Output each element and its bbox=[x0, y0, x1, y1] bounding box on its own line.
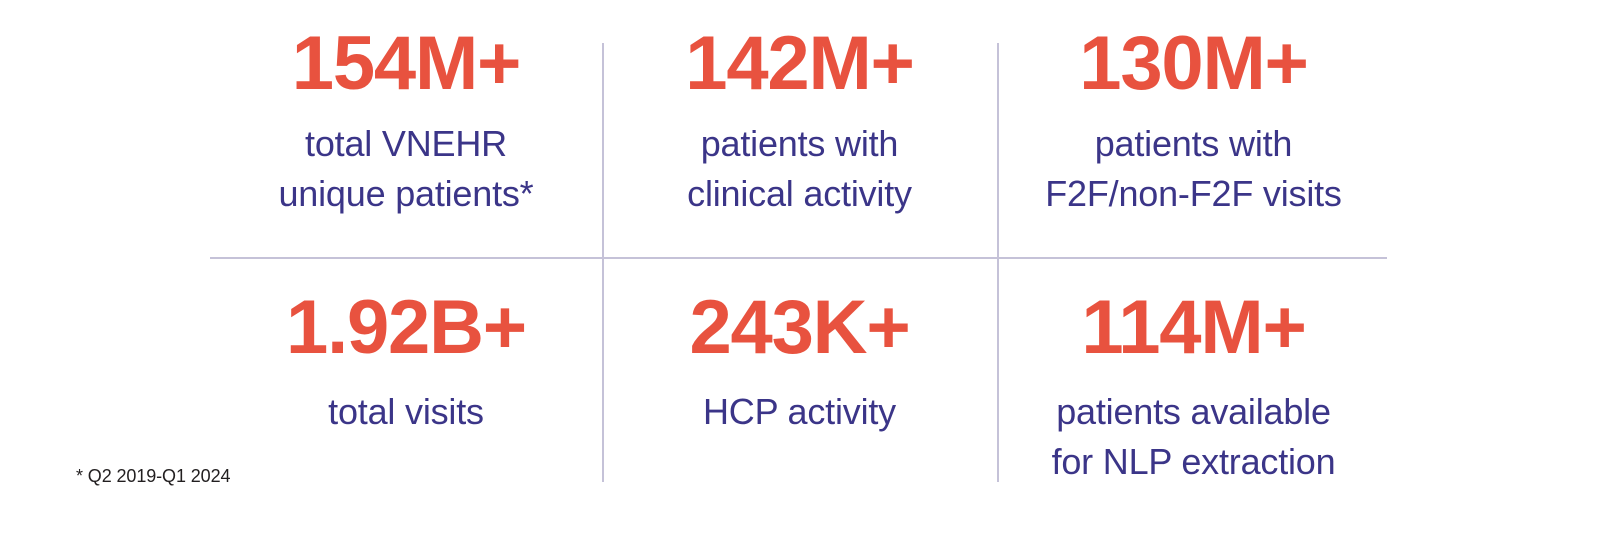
stat-card-patients-with-clinical-activity: 142M+ patients with clinical activity bbox=[602, 0, 997, 257]
stat-card-patients-with-f2f-visits: 130M+ patients with F2F/non-F2F visits bbox=[997, 0, 1390, 257]
stat-value: 154M+ bbox=[292, 26, 521, 102]
stat-value: 130M+ bbox=[1079, 26, 1308, 102]
stat-card-total-vnehr-unique-patients: 154M+ total VNEHR unique patients* bbox=[210, 0, 602, 257]
stat-label: patients with F2F/non-F2F visits bbox=[1045, 119, 1341, 219]
horizontal-divider bbox=[210, 257, 1387, 259]
stats-grid: 154M+ total VNEHR unique patients* 142M+… bbox=[210, 0, 1390, 500]
stat-label: HCP activity bbox=[703, 387, 896, 437]
stat-label: patients available for NLP extraction bbox=[1052, 387, 1336, 487]
vertical-divider-2 bbox=[997, 43, 999, 482]
stats-infographic: 154M+ total VNEHR unique patients* 142M+… bbox=[0, 0, 1600, 535]
stat-card-total-visits: 1.92B+ total visits bbox=[210, 257, 602, 500]
stat-value: 1.92B+ bbox=[286, 290, 526, 366]
footnote: * Q2 2019-Q1 2024 bbox=[76, 464, 230, 488]
stat-card-patients-available-for-nlp-extraction: 114M+ patients available for NLP extract… bbox=[997, 257, 1390, 500]
stat-label: patients with clinical activity bbox=[687, 119, 912, 219]
stat-label: total VNEHR unique patients* bbox=[278, 119, 533, 219]
vertical-divider-1 bbox=[602, 43, 604, 482]
stat-label: total visits bbox=[328, 387, 484, 437]
stat-card-hcp-activity: 243K+ HCP activity bbox=[602, 257, 997, 500]
stat-value: 243K+ bbox=[689, 290, 909, 366]
stat-value: 142M+ bbox=[685, 26, 914, 102]
stat-value: 114M+ bbox=[1081, 290, 1305, 366]
